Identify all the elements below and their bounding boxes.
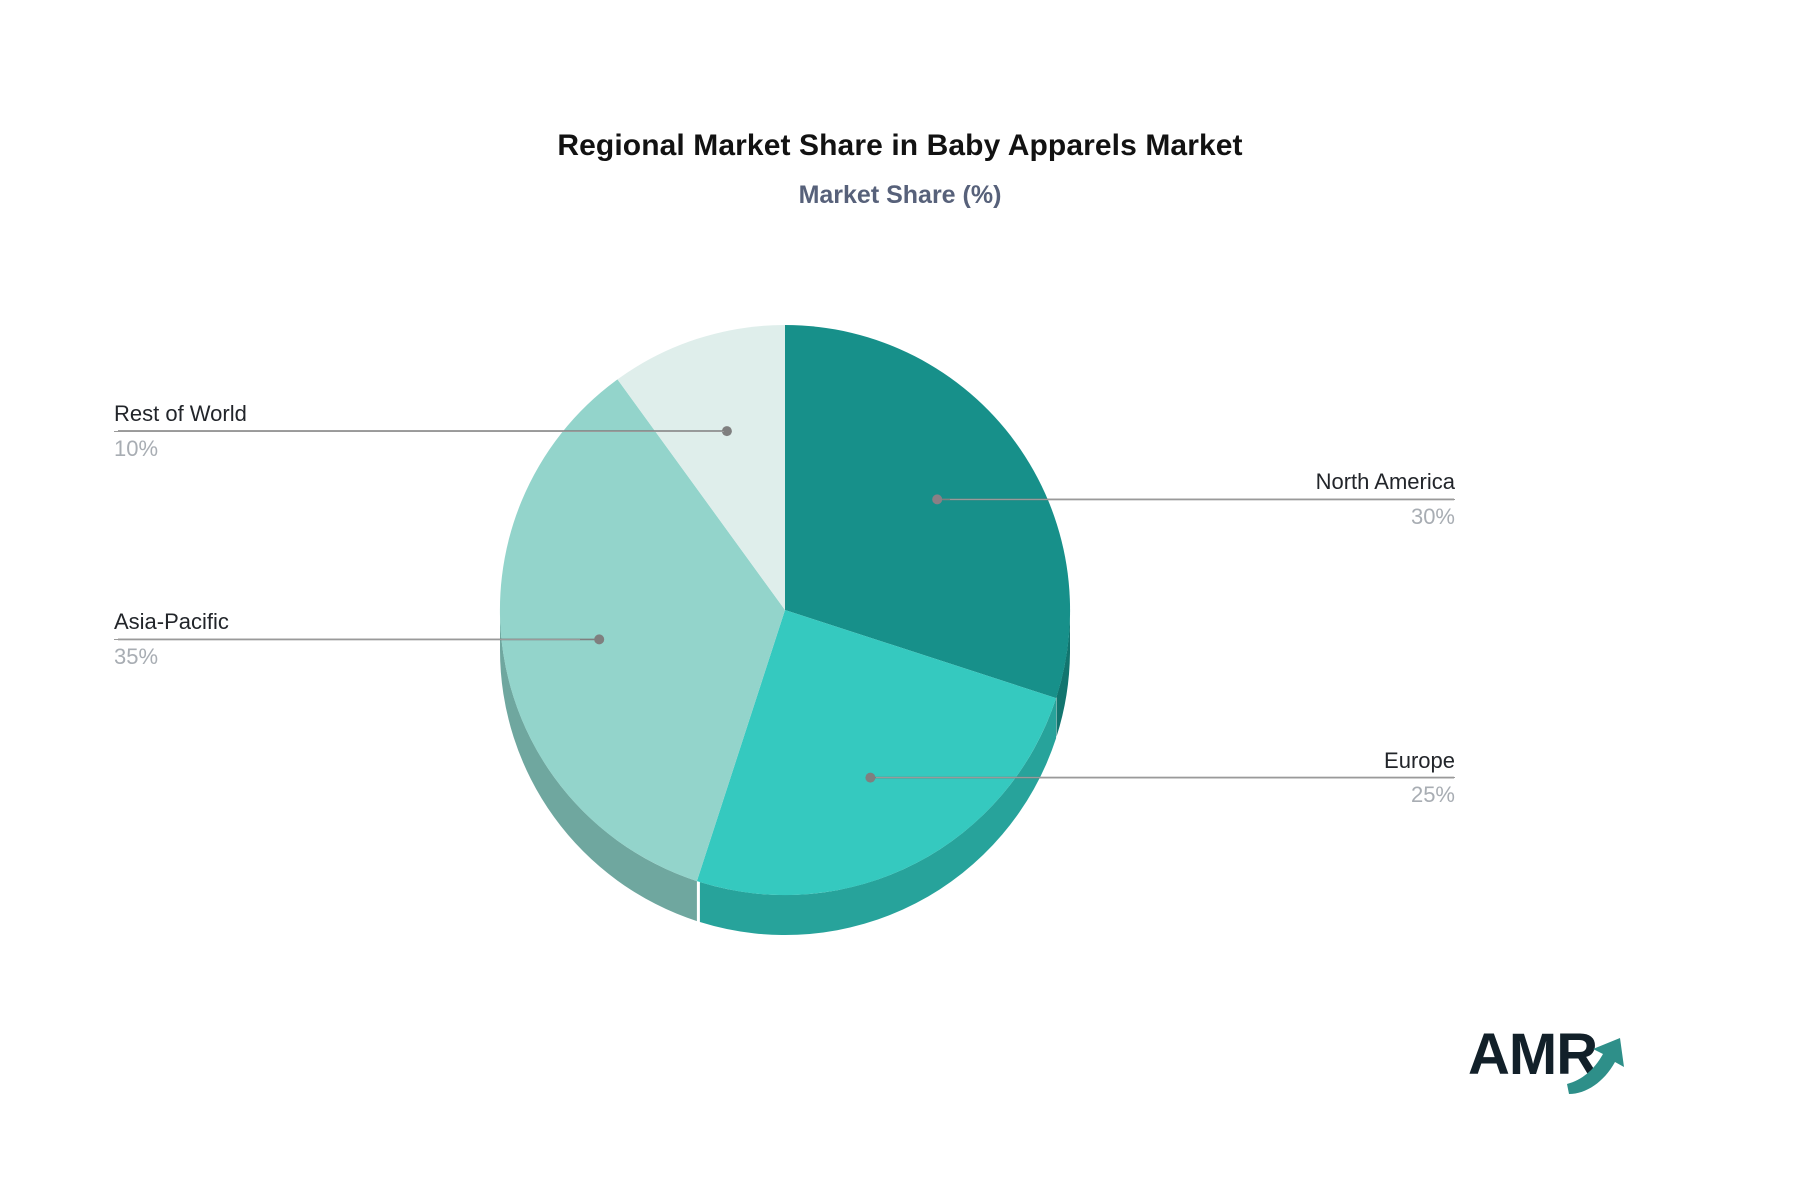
callout-rule-north-america — [950, 499, 1455, 500]
callout-label-europe: Europe — [876, 747, 1455, 775]
callout-europe[interactable]: Europe 25% — [876, 747, 1455, 809]
callout-value-asia-pacific: 35% — [114, 643, 580, 671]
leader-dot-asia-pacific — [594, 634, 604, 644]
amr-logo: AMR — [1468, 1018, 1628, 1096]
chart-canvas: Regional Market Share in Baby Apparels M… — [0, 0, 1800, 1196]
callout-label-rest-of-world: Rest of World — [114, 400, 724, 428]
callout-label-north-america: North America — [950, 468, 1455, 496]
callout-rule-europe — [876, 777, 1455, 778]
amr-logo-text: AMR — [1468, 1022, 1597, 1087]
callout-value-north-america: 30% — [950, 503, 1455, 531]
callout-rule-rest-of-world — [114, 431, 724, 432]
leader-dot-north-america — [932, 494, 942, 504]
callout-asia-pacific[interactable]: Asia-Pacific 35% — [114, 608, 580, 670]
callout-north-america[interactable]: North America 30% — [950, 468, 1455, 530]
callout-value-europe: 25% — [876, 781, 1455, 809]
leader-dot-europe — [865, 773, 875, 783]
callout-value-rest-of-world: 10% — [114, 435, 724, 463]
callout-label-asia-pacific: Asia-Pacific — [114, 608, 580, 636]
pie-chart-graphic — [0, 0, 1800, 1196]
callout-rest-of-world[interactable]: Rest of World 10% — [114, 400, 724, 462]
callout-rule-asia-pacific — [114, 639, 580, 640]
